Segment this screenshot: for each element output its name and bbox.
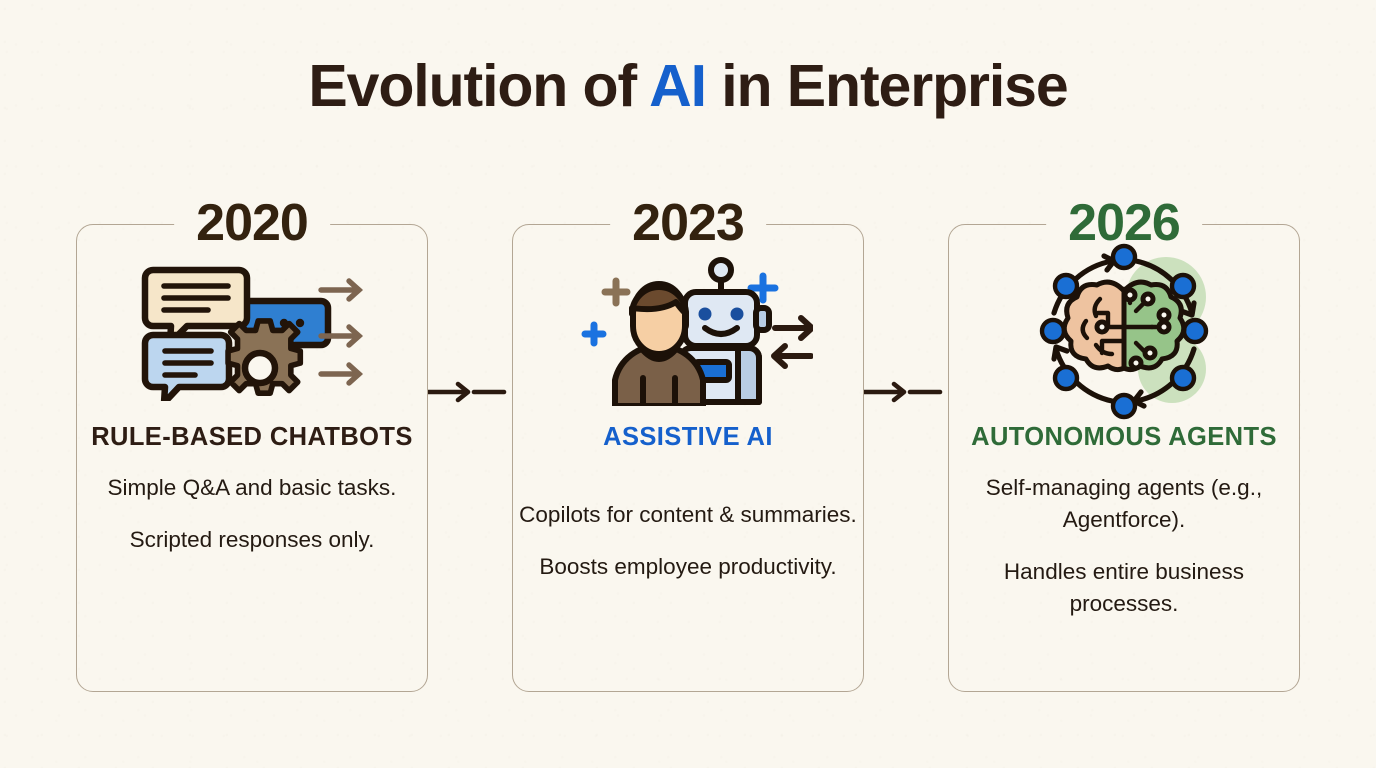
card-body-2023: Copilots for content & summaries. Boosts… bbox=[519, 499, 857, 583]
card-body-line: Copilots for content & summaries. bbox=[519, 499, 857, 531]
card-body-line: Scripted responses only. bbox=[108, 524, 397, 556]
card-body-2026: Self-managing agents (e.g., Agentforce).… bbox=[949, 472, 1299, 620]
arrow-2023-to-2026 bbox=[864, 380, 948, 404]
card-body-line: Simple Q&A and basic tasks. bbox=[108, 472, 397, 504]
card-body-line: Self-managing agents (e.g., Agentforce). bbox=[949, 472, 1299, 536]
page-title-accent: AI bbox=[649, 53, 706, 119]
card-body-line: Handles entire business processes. bbox=[949, 556, 1299, 620]
human-robot-collaboration-icon bbox=[563, 247, 813, 415]
page-title-after: in Enterprise bbox=[706, 53, 1068, 119]
card-body-line: Boosts employee productivity. bbox=[519, 551, 857, 583]
card-heading-2020: RULE-BASED CHATBOTS bbox=[91, 419, 413, 455]
card-heading-2026: AUTONOMOUS AGENTS bbox=[971, 419, 1277, 455]
page-title-before: Evolution of bbox=[308, 53, 649, 119]
timeline-card-2026[interactable]: 2026 bbox=[948, 224, 1300, 692]
timeline-card-2023[interactable]: 2023 bbox=[512, 224, 864, 692]
card-heading-2023: ASSISTIVE AI bbox=[603, 419, 773, 455]
timeline-card-2020[interactable]: 2020 bbox=[76, 224, 428, 692]
card-body-2020: Simple Q&A and basic tasks. Scripted res… bbox=[108, 472, 397, 556]
ai-brain-cycle-icon bbox=[1024, 247, 1224, 415]
page-title: Evolution of AI in Enterprise bbox=[0, 52, 1376, 120]
chat-bubbles-gear-icon bbox=[137, 247, 367, 415]
timeline-rail: 2020 bbox=[76, 224, 1300, 692]
arrow-2020-to-2023 bbox=[428, 380, 512, 404]
